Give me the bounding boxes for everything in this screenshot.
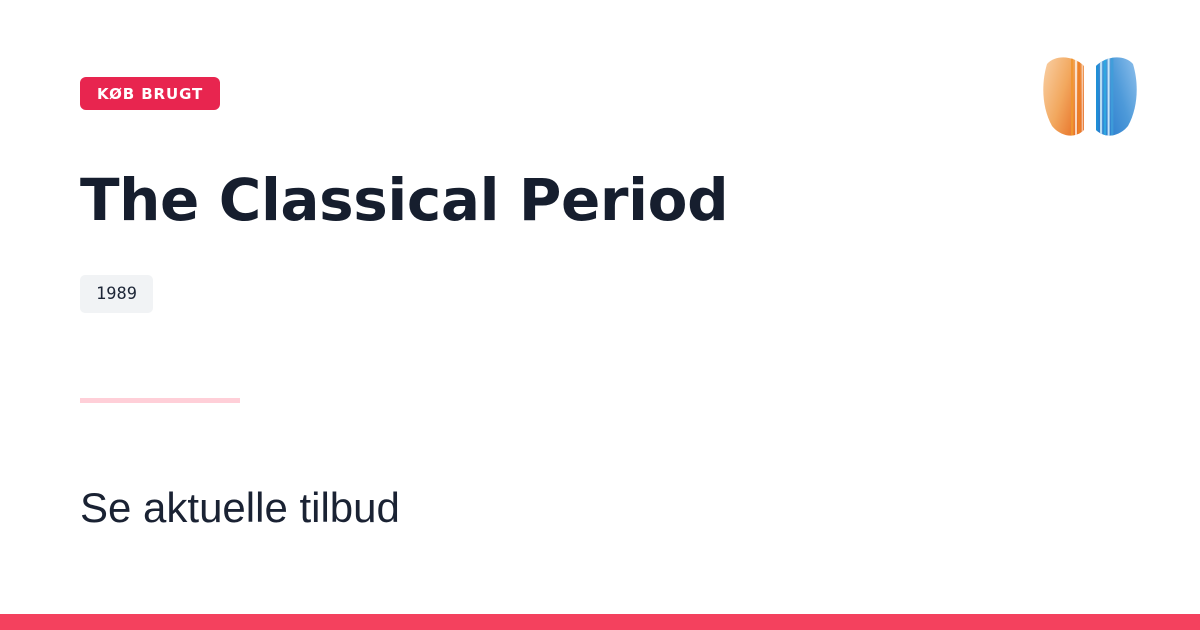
brand-logo (1038, 50, 1142, 154)
section-divider (80, 398, 240, 403)
logo-main-mark (1043, 50, 1136, 154)
page-title: The Classical Period (80, 168, 728, 233)
og-preview-card: Køb brugt The Classical Period 1989 Se a… (0, 0, 1200, 630)
bottom-accent-bar (0, 614, 1200, 630)
cta-subtitle: Se aktuelle tilbud (80, 483, 400, 533)
butterfly-wings-logo-icon (1038, 50, 1142, 154)
year-chip: 1989 (80, 275, 153, 313)
status-badge: Køb brugt (80, 77, 220, 110)
meta-row: 1989 (80, 275, 153, 313)
